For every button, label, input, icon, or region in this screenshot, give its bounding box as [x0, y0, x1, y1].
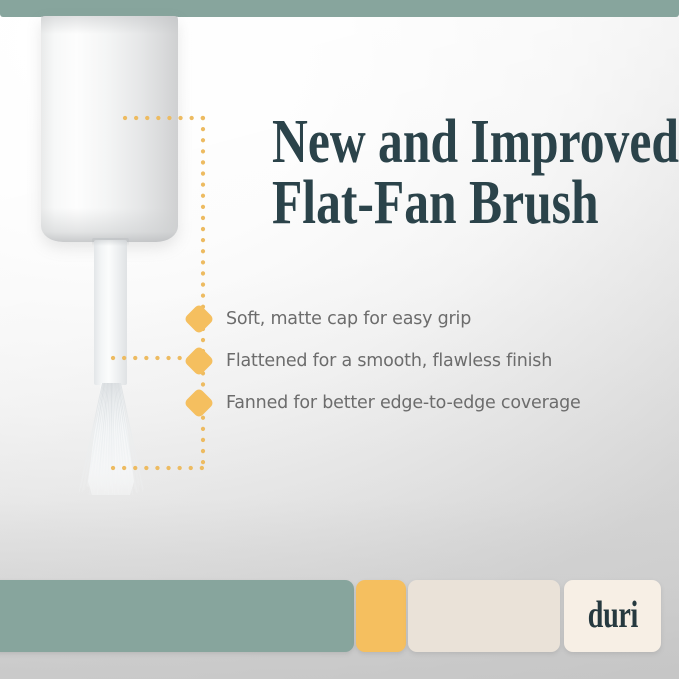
nail-polish-cap-icon — [41, 16, 178, 242]
feature-item: Soft, matte cap for easy grip — [188, 298, 668, 340]
feature-label: Flattened for a smooth, flawless finish — [226, 351, 552, 371]
brush-stem — [94, 240, 127, 385]
bottom-brand-bar: duri — [0, 580, 679, 652]
feature-item: Flattened for a smooth, flawless finish — [188, 340, 668, 382]
diamond-bullet-icon — [183, 345, 214, 376]
feature-label: Fanned for better edge-to-edge coverage — [226, 393, 581, 413]
feature-item: Fanned for better edge-to-edge coverage — [188, 382, 668, 424]
promo-image: New and Improved Flat-Fan Brush Soft, ma… — [0, 0, 679, 679]
bottom-cream-block — [408, 580, 560, 652]
cap-bottom-shade — [41, 208, 178, 242]
duri-logo: duri — [587, 596, 637, 637]
headline-line-1: New and Improved — [272, 112, 592, 173]
diamond-bullet-icon — [183, 387, 214, 418]
product-illustration — [0, 0, 300, 520]
headline: New and Improved Flat-Fan Brush — [272, 112, 672, 234]
bottom-sage-block — [0, 580, 354, 652]
bottom-amber-block — [356, 580, 406, 652]
bottom-logo-block: duri — [564, 580, 661, 652]
brush-bristles — [66, 383, 156, 495]
cap-top-shade — [41, 16, 178, 34]
diamond-bullet-icon — [183, 303, 214, 334]
feature-list: Soft, matte cap for easy grip Flattened … — [188, 298, 668, 424]
feature-label: Soft, matte cap for easy grip — [226, 309, 471, 329]
brush-stem-collar — [92, 238, 129, 246]
headline-line-2: Flat-Fan Brush — [272, 173, 592, 234]
